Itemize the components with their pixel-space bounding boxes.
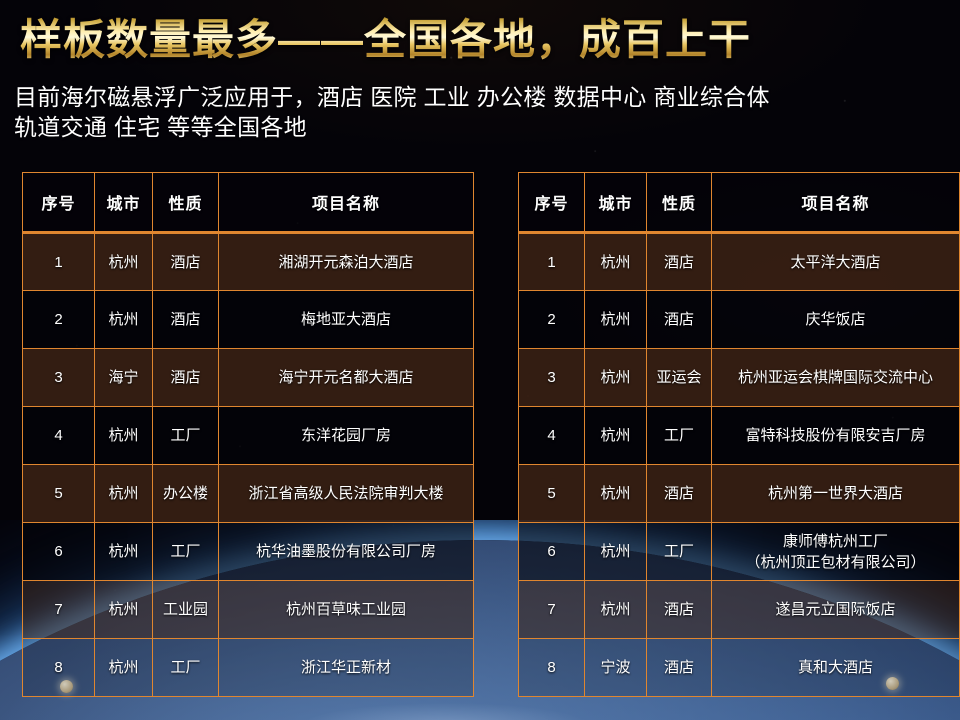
cell-type: 办公楼 (153, 465, 219, 523)
cell-project: 真和大酒店 (712, 639, 960, 697)
table-row: 7 杭州 酒店 遂昌元立国际饭店 (519, 581, 960, 639)
column-header-project: 项目名称 (712, 173, 960, 233)
table-header-row: 序号 城市 性质 项目名称 (23, 173, 474, 233)
column-header-city: 城市 (585, 173, 647, 233)
table-row: 2 杭州 酒店 庆华饭店 (519, 291, 960, 349)
cell-no: 5 (519, 465, 585, 523)
table-row: 6 杭州 工厂 康师傅杭州工厂 （杭州顶正包材有限公司） (519, 523, 960, 581)
cell-city: 杭州 (95, 407, 153, 465)
table-row: 8 宁波 酒店 真和大酒店 (519, 639, 960, 697)
cell-city: 杭州 (585, 349, 647, 407)
cell-type: 酒店 (647, 465, 712, 523)
cell-no: 8 (23, 639, 95, 697)
cell-project: 杭州亚运会棋牌国际交流中心 (712, 349, 960, 407)
table-row: 4 杭州 工厂 东洋花园厂房 (23, 407, 474, 465)
cell-city: 杭州 (585, 407, 647, 465)
cell-project: 杭州第一世界大酒店 (712, 465, 960, 523)
table-row: 6 杭州 工厂 杭华油墨股份有限公司厂房 (23, 523, 474, 581)
cell-no: 4 (519, 407, 585, 465)
table-left-body: 1 杭州 酒店 湘湖开元森泊大酒店 2 杭州 酒店 梅地亚大酒店 3 海宁 酒店… (23, 233, 474, 697)
cell-city: 杭州 (95, 465, 153, 523)
table-row: 5 杭州 酒店 杭州第一世界大酒店 (519, 465, 960, 523)
subtitle-line-1: 目前海尔磁悬浮广泛应用于，酒店 医院 工业 办公楼 数据中心 商业综合体 (14, 82, 944, 112)
slide-title: 样板数量最多——全国各地，成百上干 (20, 12, 751, 68)
cell-type: 工厂 (153, 639, 219, 697)
cell-no: 1 (23, 233, 95, 291)
cell-type: 工厂 (153, 407, 219, 465)
cell-no: 6 (519, 523, 585, 581)
table-row: 3 海宁 酒店 海宁开元名都大酒店 (23, 349, 474, 407)
cell-city: 杭州 (585, 581, 647, 639)
cell-city: 杭州 (95, 523, 153, 581)
cell-no: 3 (519, 349, 585, 407)
cell-no: 3 (23, 349, 95, 407)
cell-city: 海宁 (95, 349, 153, 407)
cell-project: 梅地亚大酒店 (219, 291, 474, 349)
cell-project: 浙江华正新材 (219, 639, 474, 697)
cell-type: 酒店 (647, 639, 712, 697)
table-header-row: 序号 城市 性质 项目名称 (519, 173, 960, 233)
cell-city: 杭州 (95, 233, 153, 291)
column-header-no: 序号 (23, 173, 95, 233)
cell-type: 工厂 (647, 523, 712, 581)
cell-project-line-2: （杭州顶正包材有限公司） (716, 552, 955, 573)
cell-city: 杭州 (95, 581, 153, 639)
column-header-type: 性质 (153, 173, 219, 233)
cell-type: 酒店 (647, 581, 712, 639)
table-row: 3 杭州 亚运会 杭州亚运会棋牌国际交流中心 (519, 349, 960, 407)
cell-project: 富特科技股份有限安吉厂房 (712, 407, 960, 465)
cell-city: 杭州 (585, 291, 647, 349)
cell-type: 酒店 (153, 291, 219, 349)
table-left-header: 序号 城市 性质 项目名称 (23, 173, 474, 233)
cell-type: 工厂 (647, 407, 712, 465)
cell-type: 亚运会 (647, 349, 712, 407)
cell-type: 工业园 (153, 581, 219, 639)
cell-type: 酒店 (153, 349, 219, 407)
cell-type: 工厂 (153, 523, 219, 581)
table-row: 4 杭州 工厂 富特科技股份有限安吉厂房 (519, 407, 960, 465)
cell-no: 2 (23, 291, 95, 349)
cell-no: 8 (519, 639, 585, 697)
cell-no: 4 (23, 407, 95, 465)
cell-project: 康师傅杭州工厂 （杭州顶正包材有限公司） (712, 523, 960, 581)
cell-no: 7 (23, 581, 95, 639)
cell-project: 杭华油墨股份有限公司厂房 (219, 523, 474, 581)
cell-no: 2 (519, 291, 585, 349)
cell-no: 1 (519, 233, 585, 291)
cell-project: 海宁开元名都大酒店 (219, 349, 474, 407)
cell-city: 杭州 (585, 233, 647, 291)
slide-canvas: 样板数量最多——全国各地，成百上干 目前海尔磁悬浮广泛应用于，酒店 医院 工业 … (0, 0, 960, 720)
table-row: 2 杭州 酒店 梅地亚大酒店 (23, 291, 474, 349)
table-row: 5 杭州 办公楼 浙江省高级人民法院审判大楼 (23, 465, 474, 523)
cell-type: 酒店 (647, 291, 712, 349)
cell-project: 东洋花园厂房 (219, 407, 474, 465)
cell-city: 宁波 (585, 639, 647, 697)
table-row: 1 杭州 酒店 湘湖开元森泊大酒店 (23, 233, 474, 291)
cell-city: 杭州 (95, 291, 153, 349)
cell-no: 5 (23, 465, 95, 523)
cell-project: 庆华饭店 (712, 291, 960, 349)
table-right-header: 序号 城市 性质 项目名称 (519, 173, 960, 233)
project-table-left: 序号 城市 性质 项目名称 1 杭州 酒店 湘湖开元森泊大酒店 2 杭州 酒店 … (22, 172, 474, 697)
column-header-type: 性质 (647, 173, 712, 233)
cell-project: 浙江省高级人民法院审判大楼 (219, 465, 474, 523)
column-header-project: 项目名称 (219, 173, 474, 233)
project-table-right: 序号 城市 性质 项目名称 1 杭州 酒店 太平洋大酒店 2 杭州 酒店 庆华饭… (518, 172, 960, 697)
column-header-no: 序号 (519, 173, 585, 233)
table-right-body: 1 杭州 酒店 太平洋大酒店 2 杭州 酒店 庆华饭店 3 杭州 亚运会 杭州亚… (519, 233, 960, 697)
cell-no: 6 (23, 523, 95, 581)
cell-project: 湘湖开元森泊大酒店 (219, 233, 474, 291)
slide-subtitle: 目前海尔磁悬浮广泛应用于，酒店 医院 工业 办公楼 数据中心 商业综合体 轨道交… (14, 82, 944, 142)
cell-type: 酒店 (647, 233, 712, 291)
table-row: 8 杭州 工厂 浙江华正新材 (23, 639, 474, 697)
table-row: 7 杭州 工业园 杭州百草味工业园 (23, 581, 474, 639)
cell-type: 酒店 (153, 233, 219, 291)
cell-city: 杭州 (95, 639, 153, 697)
cell-city: 杭州 (585, 465, 647, 523)
cell-city: 杭州 (585, 523, 647, 581)
cell-project: 太平洋大酒店 (712, 233, 960, 291)
column-header-city: 城市 (95, 173, 153, 233)
cell-project: 杭州百草味工业园 (219, 581, 474, 639)
table-row: 1 杭州 酒店 太平洋大酒店 (519, 233, 960, 291)
cell-project: 遂昌元立国际饭店 (712, 581, 960, 639)
cell-no: 7 (519, 581, 585, 639)
cell-project-line-1: 康师傅杭州工厂 (716, 531, 955, 552)
subtitle-line-2: 轨道交通 住宅 等等全国各地 (14, 112, 944, 142)
